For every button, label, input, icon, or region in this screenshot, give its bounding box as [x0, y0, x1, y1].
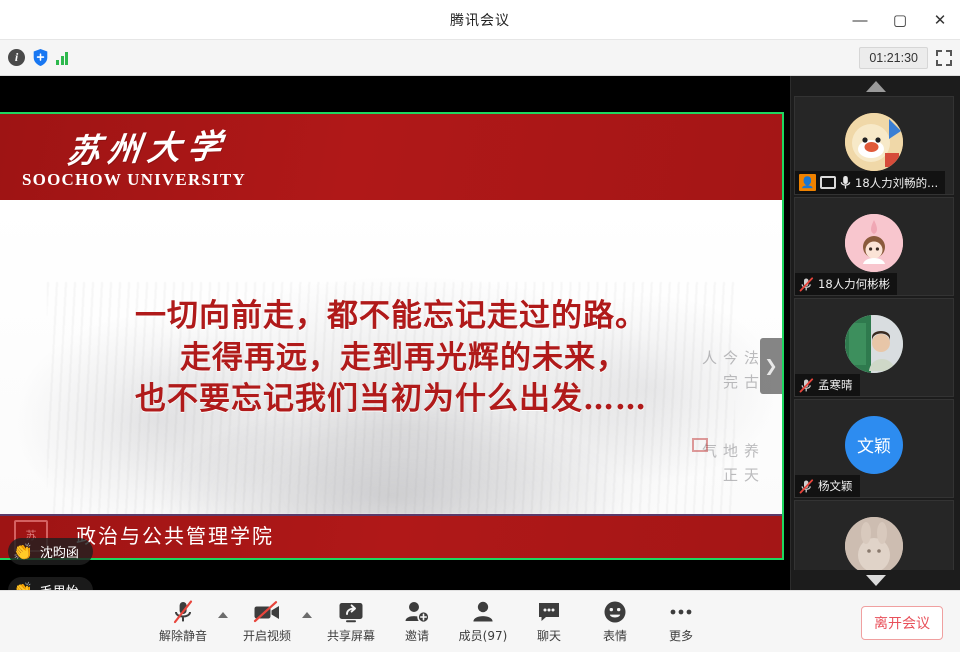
slide-footer-banner: 苏 政治与公共管理学院 — [0, 514, 782, 558]
chevron-down-icon — [866, 575, 886, 586]
participant-name: 孟寒晴 — [818, 377, 853, 393]
participant-nametag: 孟寒晴 — [795, 374, 860, 396]
raise-hand-name: 沈昀函 — [40, 542, 79, 561]
sub-toolbar-left-icons: i — [8, 48, 68, 67]
microphone-muted-icon — [799, 378, 814, 393]
microphone-on-icon — [840, 175, 851, 190]
toolbar-label: 更多 — [669, 627, 693, 644]
toolbar-button-chat[interactable]: 聊天 — [516, 591, 582, 652]
clapping-hands-icon: 👏 — [13, 583, 33, 591]
toolbar-button-share-screen[interactable]: 共享屏幕 — [318, 591, 384, 652]
participant-name: 18人力何彬彬 — [818, 276, 890, 292]
toolbar-label: 邀请 — [405, 627, 429, 644]
title-bar: 腾讯会议 — ▢ ✕ — [0, 0, 960, 40]
microphone-muted-icon — [799, 479, 814, 494]
avatar — [845, 113, 903, 171]
quote-line-2: 走得再远，走到再光辉的未来， — [0, 338, 782, 380]
toolbar-button-start-video[interactable]: 开启视频 — [234, 591, 300, 652]
rail-scroll-down-button[interactable] — [791, 570, 960, 590]
clapping-hands-icon: 👏 — [13, 544, 33, 560]
chat-bubble-icon — [537, 600, 561, 624]
participant-nametag: 👤 18人力刘畅的... — [795, 171, 945, 194]
toolbar-button-invite[interactable]: 邀请 — [384, 591, 450, 652]
participant-name: 杨文颖 — [818, 478, 853, 494]
raise-hand-name: 毛思怡 — [40, 581, 79, 590]
raise-hand-toast: 👏 毛思怡 — [8, 577, 93, 590]
participant-tile[interactable]: 祥湘乡 — [794, 500, 954, 570]
toolbar-button-more[interactable]: 更多 — [648, 591, 714, 652]
slide-quote: 一切向前走，都不能忘记走过的路。 走得再远，走到再光辉的未来， 也不要忘记我们当… — [0, 296, 782, 421]
participant-rail: 👤 18人力刘畅的... — [790, 76, 960, 590]
presentation-slide: 苏州大学 SOOCHOW UNIVERSITY 一切向前走，都不能忘记走过的路。… — [0, 114, 782, 558]
sub-toolbar-right: 01:21:30 — [859, 47, 952, 69]
meeting-timer: 01:21:30 — [859, 47, 928, 69]
toolbar-button-emoji[interactable]: 表情 — [582, 591, 648, 652]
participant-tile[interactable]: 孟寒晴 — [794, 298, 954, 397]
info-icon[interactable]: i — [8, 49, 25, 66]
share-screen-icon — [338, 600, 364, 624]
avatar — [845, 214, 903, 272]
invite-person-icon — [404, 600, 430, 624]
calligraphy-column-2: 法古今完人 — [699, 350, 762, 421]
slide-header-banner: 苏州大学 SOOCHOW UNIVERSITY — [0, 114, 782, 200]
toolbar-label: 表情 — [603, 627, 627, 644]
screen-share-frame: 苏州大学 SOOCHOW UNIVERSITY 一切向前走，都不能忘记走过的路。… — [0, 112, 784, 560]
toolbar-label: 聊天 — [537, 627, 561, 644]
fullscreen-icon[interactable] — [936, 50, 952, 66]
meeting-bottom-toolbar: 解除静音 开启视频 — [0, 590, 960, 652]
video-options-caret-icon[interactable] — [302, 612, 312, 618]
maximize-button[interactable]: ▢ — [880, 0, 920, 40]
shared-screen-stage[interactable]: 苏州大学 SOOCHOW UNIVERSITY 一切向前走，都不能忘记走过的路。… — [0, 76, 790, 590]
participant-tile[interactable]: 👤 18人力刘畅的... — [794, 96, 954, 195]
calligraphy-column-1: 养天地正气 — [699, 443, 762, 514]
toolbar-button-participants[interactable]: 成员(97) — [450, 591, 516, 652]
participants-icon — [471, 600, 495, 624]
close-button[interactable]: ✕ — [920, 0, 960, 40]
participant-tile[interactable]: 18人力何彬彬 — [794, 197, 954, 296]
window-controls: — ▢ ✕ — [840, 0, 960, 40]
toolbar-label: 解除静音 — [159, 627, 207, 644]
toolbar-buttons: 解除静音 开启视频 — [150, 591, 714, 652]
vertical-calligraphy: 养天地正气 法古今完人 — [699, 350, 762, 514]
more-dots-icon — [668, 600, 694, 624]
audio-options-caret-icon[interactable] — [218, 612, 228, 618]
microphone-muted-icon — [172, 600, 194, 624]
participant-thumbnail-list[interactable]: 👤 18人力刘畅的... — [794, 96, 958, 570]
meeting-sub-toolbar: i 01:21:30 — [0, 40, 960, 76]
host-badge-icon: 👤 — [799, 174, 816, 191]
window-title: 腾讯会议 — [450, 10, 510, 30]
avatar-initials: 文颖 — [845, 416, 903, 474]
next-slide-chevron-icon[interactable]: ❯ — [760, 338, 782, 394]
network-signal-icon[interactable] — [56, 50, 68, 65]
leave-meeting-button[interactable]: 离开会议 — [861, 606, 943, 640]
minimize-button[interactable]: — — [840, 0, 880, 40]
university-logo-cn: 苏州大学 — [65, 119, 232, 173]
avatar — [845, 315, 903, 373]
participant-name: 18人力刘畅的... — [855, 175, 938, 191]
rail-scroll-up-button[interactable] — [791, 76, 960, 96]
toolbar-label: 成员(97) — [459, 627, 508, 644]
toolbar-label: 共享屏幕 — [327, 627, 375, 644]
screen-share-badge-icon — [820, 176, 836, 189]
participant-tile[interactable]: 文颖 杨文颖 — [794, 399, 954, 498]
raise-hand-toast: 👏 沈昀函 — [8, 538, 93, 565]
slide-seal-stamp — [692, 438, 708, 452]
toolbar-button-unmute[interactable]: 解除静音 — [150, 591, 216, 652]
quote-line-1: 一切向前走，都不能忘记走过的路。 — [0, 296, 782, 338]
quote-line-3: 也不要忘记我们当初为什么出发…… — [0, 379, 782, 421]
toolbar-label: 开启视频 — [243, 627, 291, 644]
participant-nametag: 杨文颖 — [795, 475, 860, 497]
participant-nametag: 18人力何彬彬 — [795, 273, 897, 295]
slide-body: 一切向前走，都不能忘记走过的路。 走得再远，走到再光辉的未来， 也不要忘记我们当… — [0, 200, 782, 514]
avatar — [845, 517, 903, 570]
microphone-muted-icon — [799, 277, 814, 292]
emoji-smiley-icon — [603, 600, 627, 624]
chevron-up-icon — [866, 81, 886, 92]
shield-plus-icon[interactable] — [32, 48, 49, 67]
department-name: 政治与公共管理学院 — [76, 520, 274, 549]
university-logo-en: SOOCHOW UNIVERSITY — [22, 170, 246, 190]
video-camera-muted-icon — [253, 600, 281, 624]
meeting-window: 腾讯会议 — ▢ ✕ i 01:21:30 苏州大学 — [0, 0, 960, 652]
